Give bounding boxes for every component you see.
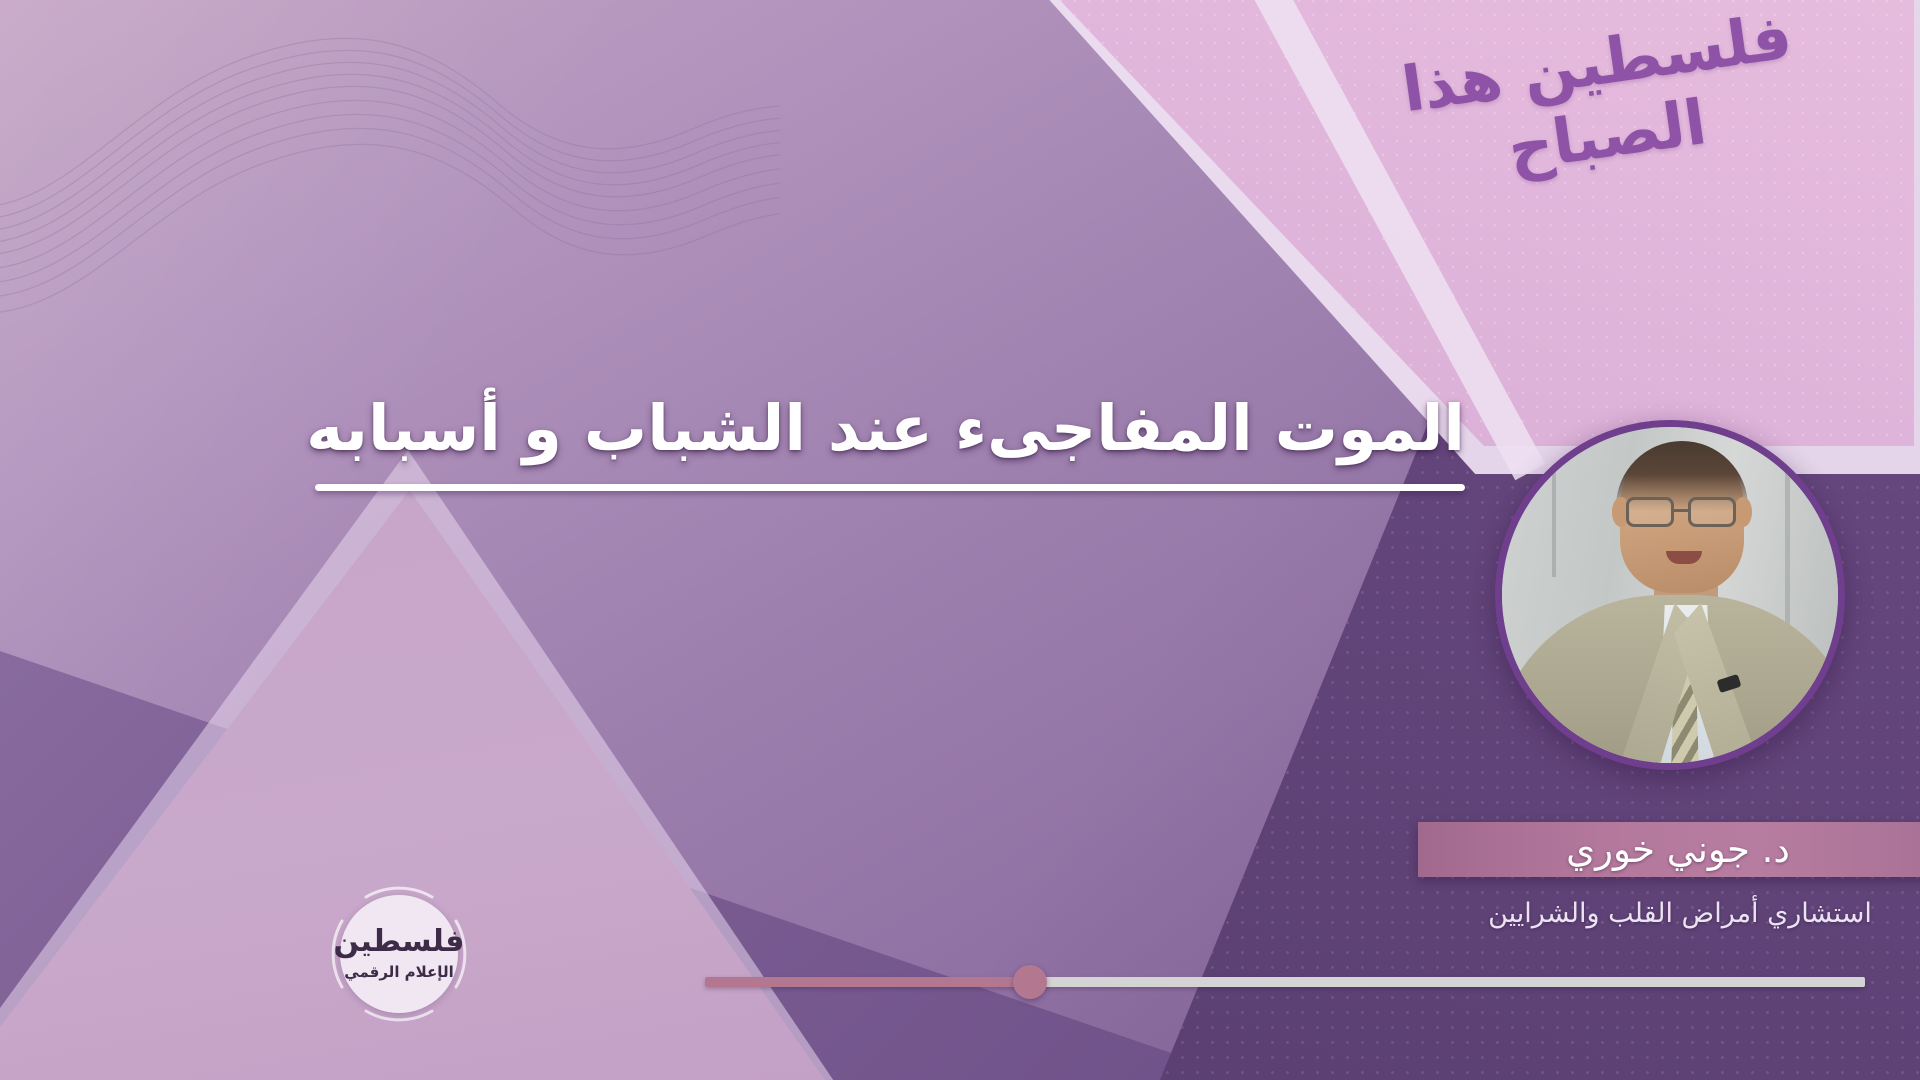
page-title: الموت المفاجىء عند الشباب و أسبابه [315,392,1465,466]
speaker-name-banner: د. جوني خوري [1418,822,1920,877]
portrait-eyeglass-right [1688,497,1736,527]
portrait-ear-right [1734,497,1752,527]
speaker-name: د. جوني خوري [1566,828,1790,871]
title-underline [315,484,1465,491]
portrait-eyeglass-bridge [1672,509,1690,512]
broadcast-frame: فلسطين هذا الصباح الموت المفاجىء عند الش… [0,0,1920,1080]
progress-handle[interactable] [1013,965,1047,999]
portrait-eyeglass-left [1626,497,1674,527]
speaker-role: استشاري أمراض القلب والشرايين [1420,898,1920,929]
channel-watermark: فلسطين الإعلام الرقمي [340,895,458,1013]
episode-title-block: الموت المفاجىء عند الشباب و أسبابه [315,392,1465,491]
portrait-wall-seam-left [1552,427,1556,577]
watermark-subtitle: الإعلام الرقمي [344,963,453,981]
decorative-wave-lines [0,0,780,350]
watermark-title: فلسطين [334,927,465,957]
progress-fill [705,977,1030,987]
avatar [1495,420,1845,770]
